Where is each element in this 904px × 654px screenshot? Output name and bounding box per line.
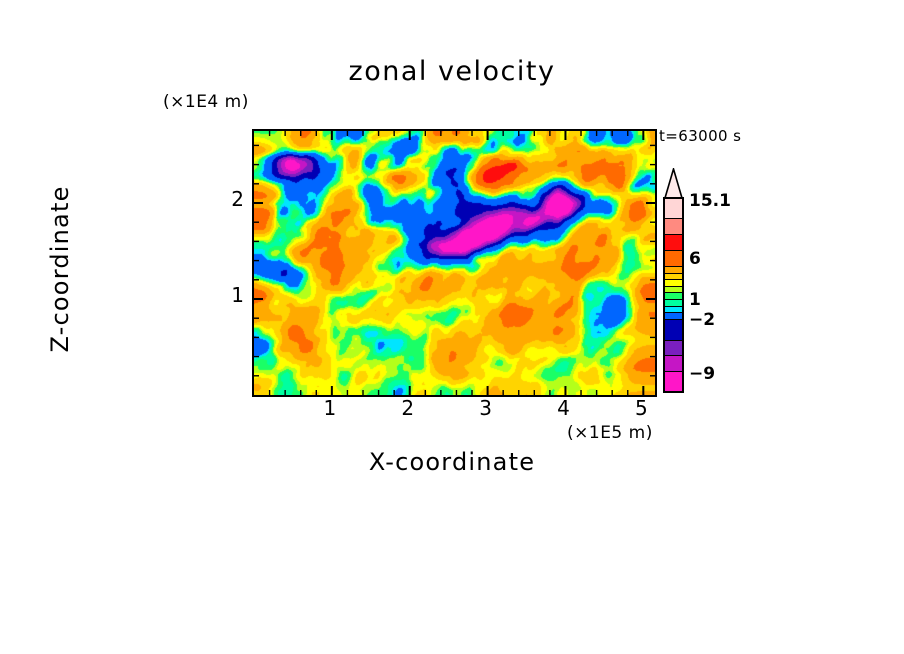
y-tick-label: 2 bbox=[210, 187, 244, 211]
colorbar-band-orange bbox=[665, 251, 682, 268]
y-tick-label: 1 bbox=[210, 283, 244, 307]
colorbar-band-red bbox=[665, 235, 682, 251]
velocity-field-canvas bbox=[254, 131, 655, 395]
page-title: zonal velocity bbox=[0, 56, 904, 87]
colorbar: 15.161−2−9 bbox=[663, 168, 684, 393]
colorbar-label: 1 bbox=[689, 290, 701, 310]
colorbar-band-magenta-purple bbox=[665, 356, 682, 372]
colorbar-band-azure bbox=[665, 313, 682, 321]
x-tick-label: 1 bbox=[310, 396, 350, 420]
colorbar-arrow-cap bbox=[663, 168, 684, 199]
x-tick-label: 3 bbox=[466, 396, 506, 420]
colorbar-label: −9 bbox=[689, 364, 715, 384]
colorbar-bands bbox=[663, 197, 684, 393]
figure-root: zonal velocity (×1E4 m) (×1E5 m) X-coord… bbox=[0, 0, 904, 654]
y-axis-unit-label: (×1E4 m) bbox=[163, 92, 249, 112]
colorbar-label: 6 bbox=[689, 249, 701, 269]
colorbar-band-amber bbox=[665, 267, 682, 274]
x-axis-title: X-coordinate bbox=[0, 448, 904, 476]
colorbar-band-green bbox=[665, 293, 682, 301]
x-tick-label: 4 bbox=[543, 396, 583, 420]
colorbar-band-pink-white bbox=[665, 199, 682, 219]
x-tick-label: 2 bbox=[388, 396, 428, 420]
colorbar-band-navy bbox=[665, 320, 682, 340]
x-axis-unit-label: (×1E5 m) bbox=[567, 423, 653, 443]
colorbar-band-purple bbox=[665, 341, 682, 357]
contour-plot-area bbox=[252, 129, 657, 397]
colorbar-band-salmon bbox=[665, 219, 682, 236]
time-annotation: t=63000 s bbox=[659, 127, 741, 145]
colorbar-label: −2 bbox=[689, 310, 715, 330]
y-axis-title: Z-coordinate bbox=[46, 139, 74, 399]
x-tick-label: 5 bbox=[621, 396, 661, 420]
colorbar-band-magenta bbox=[665, 372, 682, 391]
colorbar-label: 15.1 bbox=[689, 191, 731, 211]
